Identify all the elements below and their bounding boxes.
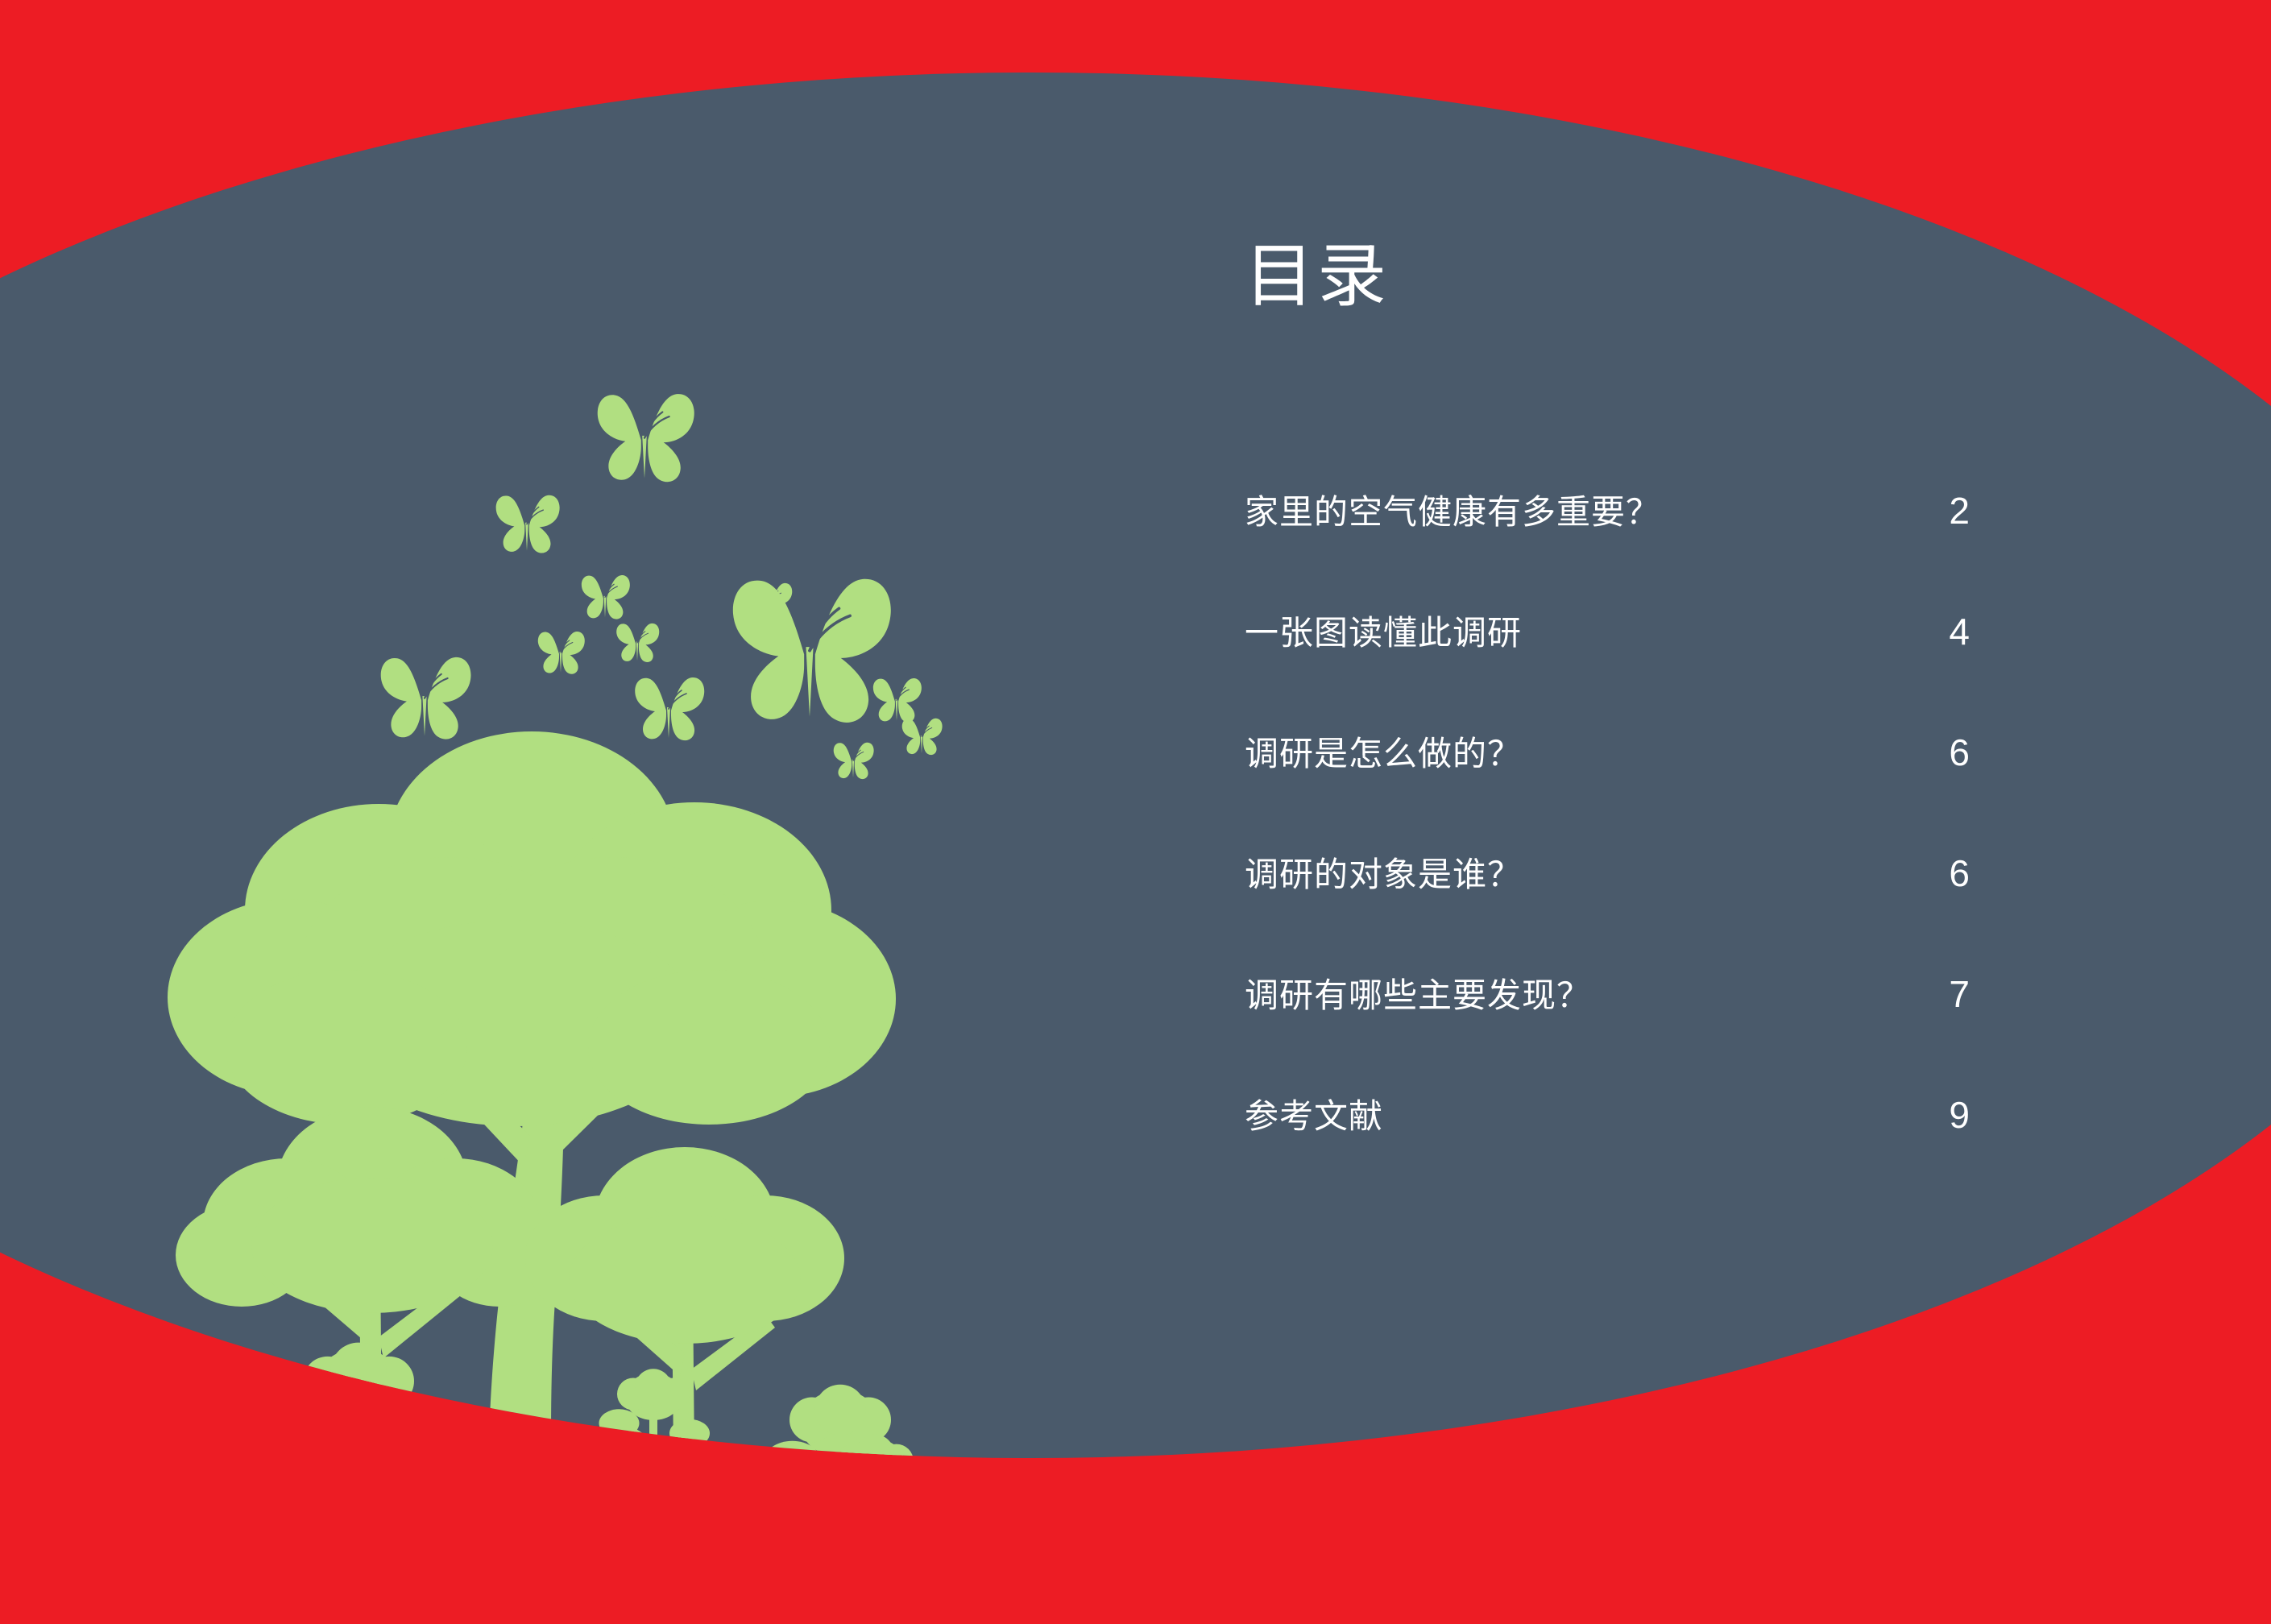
toc-entry-4[interactable]: 调研的对象是谁？ 6 [1245,852,1970,930]
toc-entry-page: 2 [1921,490,1970,532]
toc-page: 目录 家里的空气健康有多重要？ 2 一张图读懂此调研 4 调研是怎么做的？ 6 … [0,0,2271,1624]
toc-entry-label: 调研是怎么做的？ [1245,733,1522,775]
toc-entry-1[interactable]: 家里的空气健康有多重要？ 2 [1245,490,1970,567]
toc-entry-label: 调研有哪些主要发现？ [1245,975,1591,1017]
toc-entry-3[interactable]: 调研是怎么做的？ 6 [1245,731,1970,809]
toc-entry-page: 9 [1921,1094,1970,1136]
toc-entry-page: 7 [1921,973,1970,1015]
toc-entry-label: 一张图读懂此调研 [1245,612,1522,654]
toc-entry-6[interactable]: 参考文献 9 [1245,1094,1970,1171]
toc-entry-page: 6 [1921,731,1970,773]
page-title: 目录 [1245,242,1970,311]
table-of-contents: 目录 家里的空气健康有多重要？ 2 一张图读懂此调研 4 调研是怎么做的？ 6 … [1245,242,1970,1171]
toc-entry-5[interactable]: 调研有哪些主要发现？ 7 [1245,973,1970,1050]
toc-entry-page: 4 [1921,611,1970,652]
toc-entry-label: 调研的对象是谁？ [1245,854,1522,896]
toc-entry-2[interactable]: 一张图读懂此调研 4 [1245,611,1970,688]
toc-entry-label: 家里的空气健康有多重要？ [1245,491,1660,533]
toc-entry-page: 6 [1921,852,1970,894]
toc-entry-label: 参考文献 [1245,1096,1383,1137]
